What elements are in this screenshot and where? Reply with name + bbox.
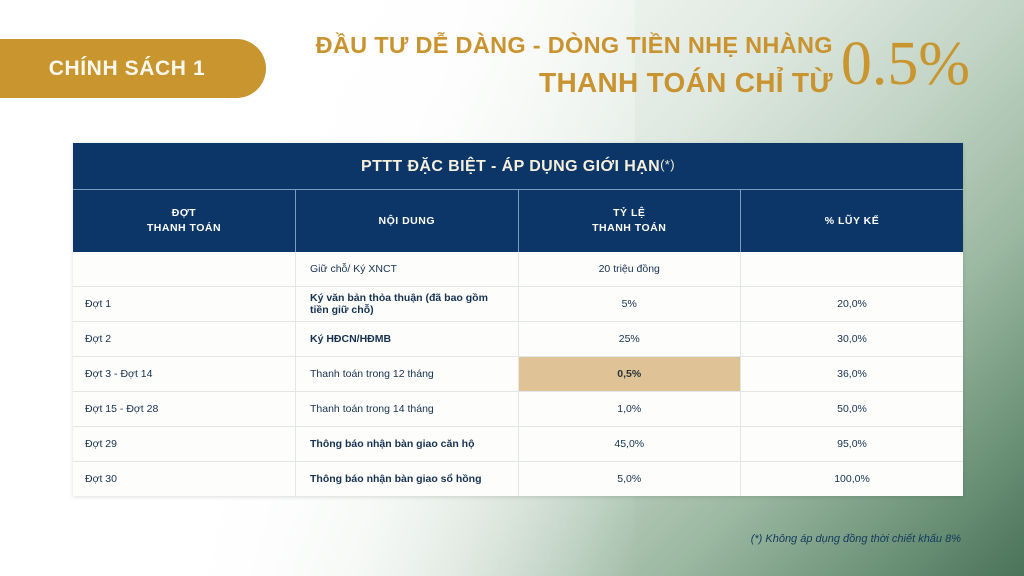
table-row: Đợt 3 - Đợt 14Thanh toán trong 12 tháng0…	[73, 357, 963, 392]
column-header-stage-line2: THANH TOÁN	[79, 221, 289, 236]
column-header-cumulative-line1: % LŨY KẾ	[747, 214, 957, 229]
cell-content: Thông báo nhận bàn giao sổ hồng	[296, 462, 519, 497]
column-header-rate-line1: TỶ LỆ	[525, 206, 735, 221]
table-title-text: PTTT ĐẶC BIỆT - ÁP DỤNG GIỚI HẠN	[361, 158, 660, 175]
cell-content: Thanh toán trong 14 tháng	[296, 392, 519, 427]
cell-rate: 25%	[518, 322, 741, 357]
headline-text: ĐẦU TƯ DỄ DÀNG - DÒNG TIỀN NHẸ NHÀNG THA…	[300, 30, 841, 102]
table-row: Đợt 15 - Đợt 28Thanh toán trong 14 tháng…	[73, 392, 963, 427]
headline-block: ĐẦU TƯ DỄ DÀNG - DÒNG TIỀN NHẸ NHÀNG THA…	[300, 30, 970, 102]
slide-canvas: CHÍNH SÁCH 1 ĐẦU TƯ DỄ DÀNG - DÒNG TIỀN …	[0, 0, 1024, 576]
column-header-stage-line1: ĐỢT	[79, 206, 289, 221]
table-header-row: ĐỢT THANH TOÁN NỘI DUNG TỶ LỆ THANH TOÁN…	[73, 190, 963, 253]
table-row: Đợt 30Thông báo nhận bàn giao sổ hồng5,0…	[73, 462, 963, 497]
table-footnote: (*) Không áp dụng đồng thời chiết khấu 8…	[751, 533, 961, 545]
headline-rate-figure: 0.5%	[841, 28, 970, 100]
cell-rate: 1,0%	[518, 392, 741, 427]
table-row: Đợt 29Thông báo nhận bàn giao căn hộ45,0…	[73, 427, 963, 462]
cell-content: Thông báo nhận bàn giao căn hộ	[296, 427, 519, 462]
cell-stage: Đợt 29	[73, 427, 296, 462]
cell-content: Giữ chỗ/ Ký XNCT	[296, 252, 519, 287]
cell-rate: 5,0%	[518, 462, 741, 497]
table-body: Giữ chỗ/ Ký XNCT20 triệu đồngĐợt 1Ký văn…	[73, 252, 963, 496]
cell-rate: 5%	[518, 287, 741, 322]
table-row: Đợt 1Ký văn bản thỏa thuận (đã bao gồm t…	[73, 287, 963, 322]
table-title-asterisk: (*)	[660, 157, 675, 172]
cell-cumulative	[741, 252, 964, 287]
cell-rate: 45,0%	[518, 427, 741, 462]
cell-stage: Đợt 3 - Đợt 14	[73, 357, 296, 392]
cell-content: Thanh toán trong 12 tháng	[296, 357, 519, 392]
cell-cumulative: 95,0%	[741, 427, 964, 462]
cell-cumulative: 36,0%	[741, 357, 964, 392]
table-column-header: ĐỢT THANH TOÁN NỘI DUNG TỶ LỆ THANH TOÁN…	[73, 190, 963, 253]
cell-stage	[73, 252, 296, 287]
cell-rate: 0,5%	[518, 357, 741, 392]
table-title-row: PTTT ĐẶC BIỆT - ÁP DỤNG GIỚI HẠN(*)	[73, 143, 963, 190]
column-header-content-line1: NỘI DUNG	[302, 214, 512, 229]
column-header-rate: TỶ LỆ THANH TOÁN	[518, 190, 741, 253]
cell-content: Ký HĐCN/HĐMB	[296, 322, 519, 357]
cell-cumulative: 100,0%	[741, 462, 964, 497]
cell-stage: Đợt 30	[73, 462, 296, 497]
payment-schedule-table-wrapper: PTTT ĐẶC BIỆT - ÁP DỤNG GIỚI HẠN(*) ĐỢT …	[73, 143, 963, 496]
headline-line-2: THANH TOÁN CHỈ TỪ	[300, 64, 833, 102]
cell-stage: Đợt 15 - Đợt 28	[73, 392, 296, 427]
headline-line-1: ĐẦU TƯ DỄ DÀNG - DÒNG TIỀN NHẸ NHÀNG	[300, 30, 833, 60]
table-title-cell: PTTT ĐẶC BIỆT - ÁP DỤNG GIỚI HẠN(*)	[73, 143, 963, 190]
column-header-content: NỘI DUNG	[296, 190, 519, 253]
cell-cumulative: 20,0%	[741, 287, 964, 322]
payment-schedule-table: PTTT ĐẶC BIỆT - ÁP DỤNG GIỚI HẠN(*) ĐỢT …	[73, 143, 963, 496]
cell-content: Ký văn bản thỏa thuận (đã bao gồm tiền g…	[296, 287, 519, 322]
cell-cumulative: 50,0%	[741, 392, 964, 427]
column-header-stage: ĐỢT THANH TOÁN	[73, 190, 296, 253]
cell-cumulative: 30,0%	[741, 322, 964, 357]
table-row: Giữ chỗ/ Ký XNCT20 triệu đồng	[73, 252, 963, 287]
table-row: Đợt 2Ký HĐCN/HĐMB25%30,0%	[73, 322, 963, 357]
cell-stage: Đợt 1	[73, 287, 296, 322]
cell-stage: Đợt 2	[73, 322, 296, 357]
cell-rate: 20 triệu đồng	[518, 252, 741, 287]
policy-badge-label: CHÍNH SÁCH 1	[49, 57, 206, 81]
column-header-cumulative: % LŨY KẾ	[741, 190, 964, 253]
column-header-rate-line2: THANH TOÁN	[525, 221, 735, 236]
policy-badge: CHÍNH SÁCH 1	[0, 39, 266, 98]
